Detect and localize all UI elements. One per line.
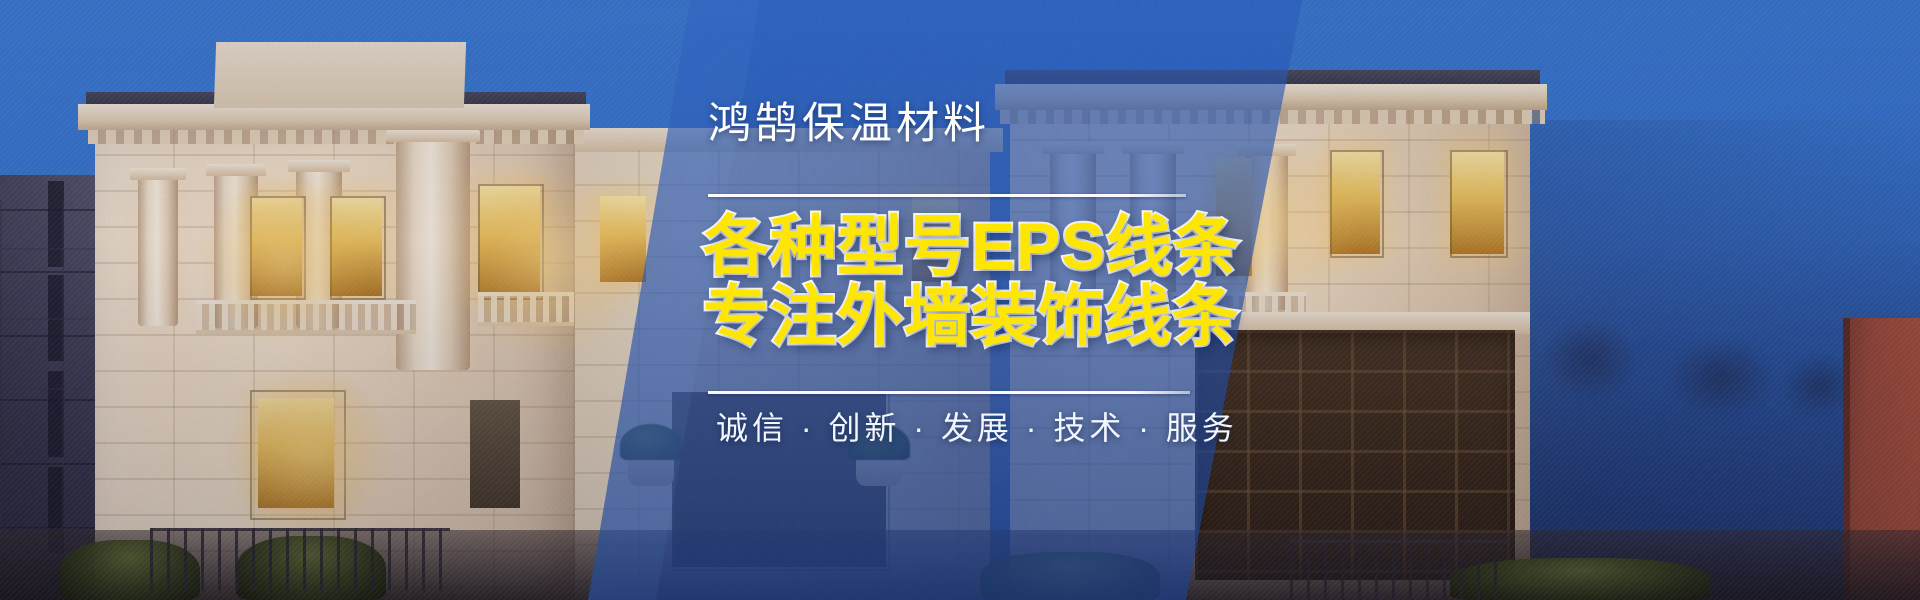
brand-name: 鸿鹄保温材料: [708, 103, 990, 146]
promo-banner: 鸿鹄保温材料 各种型号EPS线条 专注外墙装饰线条 诚信 · 创新 · 发展 ·…: [0, 0, 1920, 600]
tagline: 诚信 · 创新 · 发展 · 技术 · 服务: [716, 412, 1238, 444]
banner-text-block: 鸿鹄保温材料 各种型号EPS线条 专注外墙装饰线条 诚信 · 创新 · 发展 ·…: [0, 0, 1920, 600]
divider-bottom: [708, 391, 1190, 394]
headline-line-2: 专注外墙装饰线条: [703, 283, 1239, 350]
divider-top: [708, 194, 1186, 197]
headline-line-1: 各种型号EPS线条: [703, 213, 1240, 280]
